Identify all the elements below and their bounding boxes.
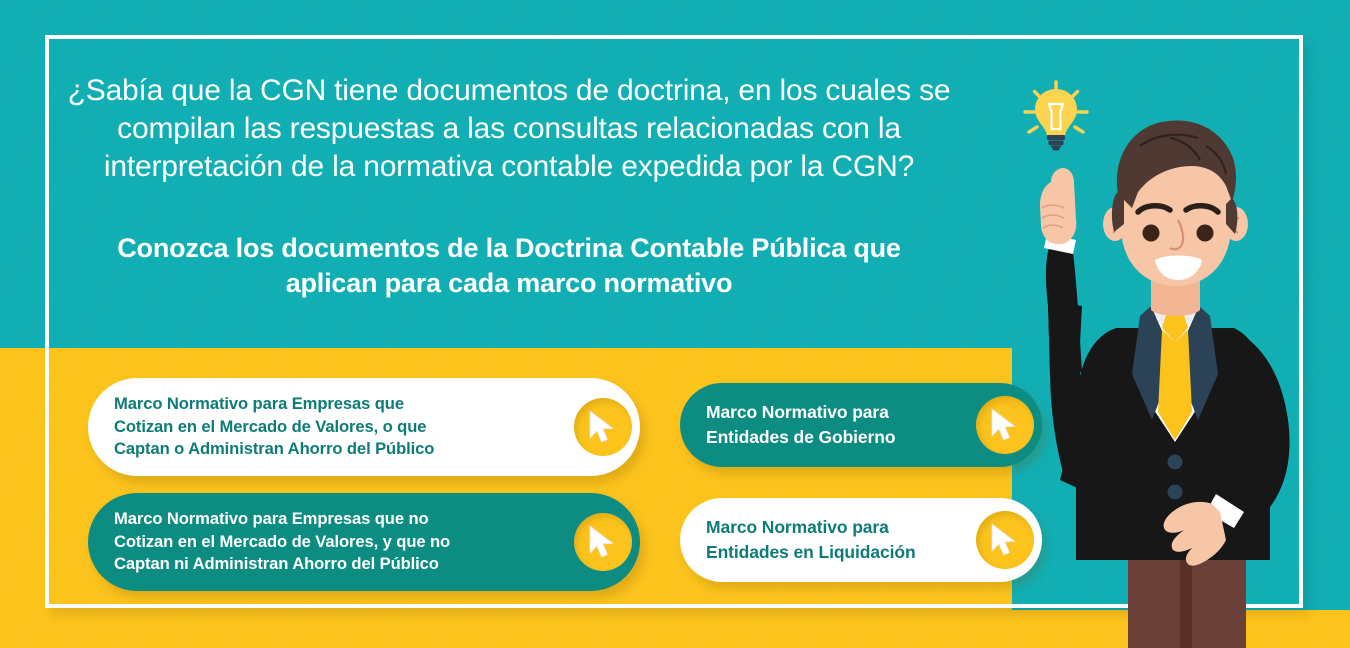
button-label: Marco Normativo para Entidades de Gobier… [706,400,966,450]
button-empresas-no-cotizan[interactable]: Marco Normativo para Empresas que no Cot… [88,493,640,591]
button-entidades-gobierno[interactable]: Marco Normativo para Entidades de Gobier… [680,383,1042,467]
button-label: Marco Normativo para Empresas que no Cot… [114,508,564,577]
cursor-pointer-icon[interactable] [574,398,632,456]
button-label: Marco Normativo para Entidades en Liquid… [706,515,966,565]
cursor-pointer-icon[interactable] [574,513,632,571]
button-empresas-cotizan[interactable]: Marco Normativo para Empresas que Cotiza… [88,378,640,476]
businessman-pointing-up-illustration [1020,120,1350,648]
page-title: ¿Sabía que la CGN tiene documentos de do… [64,72,954,185]
promo-banner: ¿Sabía que la CGN tiene documentos de do… [0,0,1350,648]
headline-block: ¿Sabía que la CGN tiene documentos de do… [64,72,954,300]
button-label: Marco Normativo para Empresas que Cotiza… [114,393,564,462]
cursor-pointer-icon[interactable] [976,511,1034,569]
page-subtitle: Conozca los documentos de la Doctrina Co… [64,231,954,300]
cursor-pointer-icon[interactable] [976,396,1034,454]
button-entidades-liquidacion[interactable]: Marco Normativo para Entidades en Liquid… [680,498,1042,582]
